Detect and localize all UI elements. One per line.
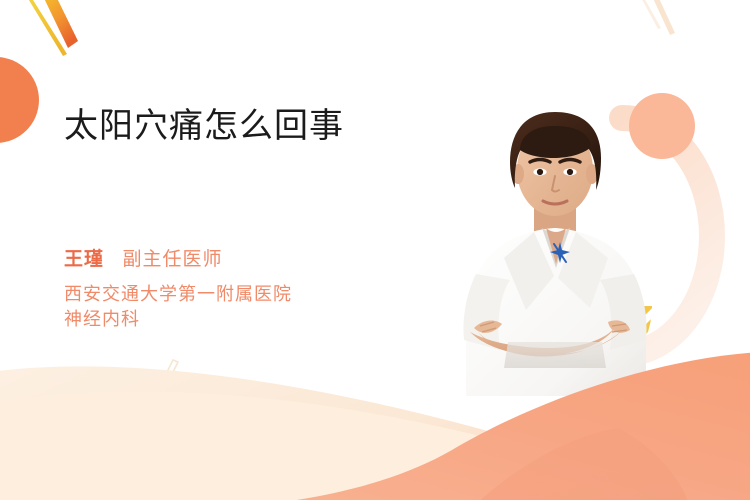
- doctor-hospital: 西安交通大学第一附属医院: [64, 282, 444, 307]
- doctor-title: 副主任医师: [122, 249, 222, 270]
- doctor-name: 王瑾: [64, 249, 104, 270]
- health-video-cover-card: 太阳穴痛怎么回事 王瑾 副主任医师 西安交通大学第一附属医院 神经内科: [0, 0, 750, 500]
- doctor-department: 神经内科: [64, 307, 444, 332]
- doctor-name-line: 王瑾 副主任医师: [64, 244, 444, 271]
- page-title: 太阳穴痛怎么回事: [64, 104, 444, 148]
- cover-text-block: 太阳穴痛怎么回事 王瑾 副主任医师 西安交通大学第一附属医院 神经内科: [64, 104, 444, 332]
